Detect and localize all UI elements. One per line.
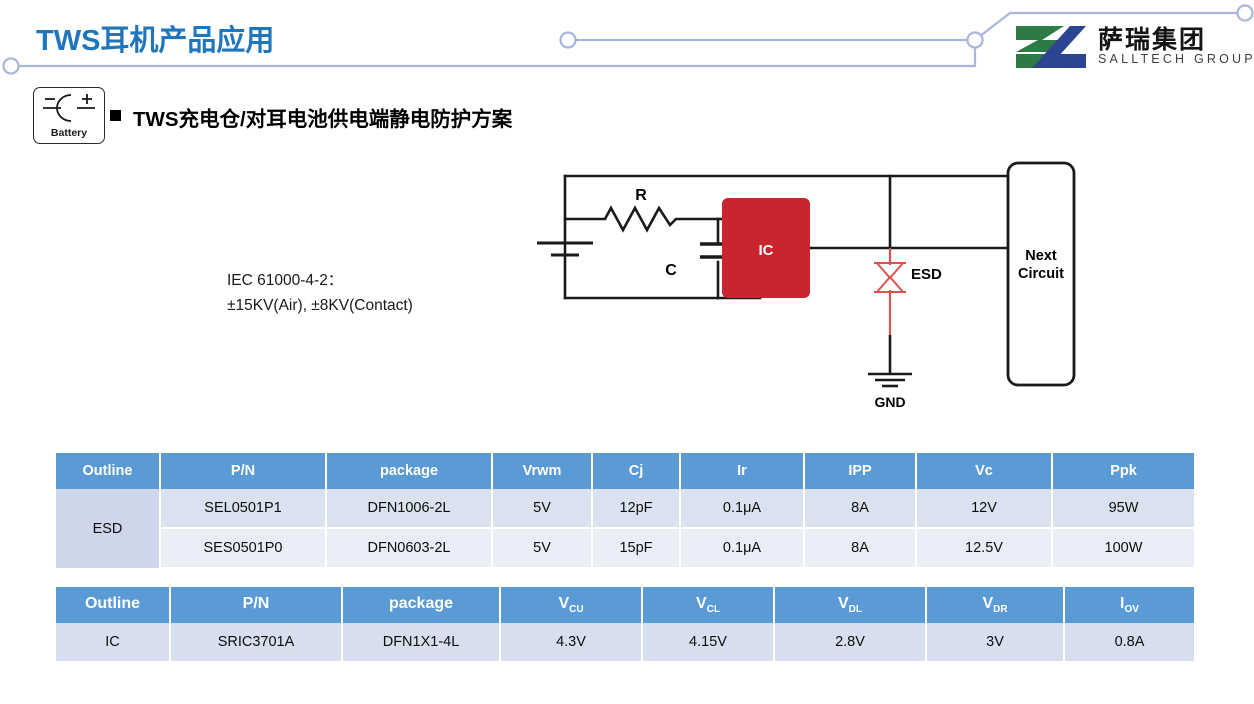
esd-spec-table: Outline P/N package Vrwm Cj Ir IPP Vc Pp… [56,453,1194,569]
cell-vcl: 4.15V [642,623,774,661]
cell-cj: 15pF [592,528,680,568]
col-cj[interactable]: Cj [592,453,680,489]
col-package[interactable]: package [326,453,492,489]
cell-ppk: 100W [1052,528,1194,568]
col-package[interactable]: package [342,587,500,623]
cell-ipp: 8A [804,528,916,568]
cell-pn: SEL0501P1 [160,489,326,528]
ic-spec-table: Outline P/N package VCU VCL VDL VDR IOV … [56,587,1194,661]
resistor-symbol [605,208,676,230]
cell-vrwm: 5V [492,489,592,528]
cell-vrwm: 5V [492,528,592,568]
cell-vdr: 3V [926,623,1064,661]
company-logo: 萨瑞集团 SALLTECH GROUP [1012,22,1248,74]
col-vdl[interactable]: VDL [774,587,926,623]
esd-label: ESD [911,266,942,283]
section-title: TWS充电仓/对耳电池供电端静电防护方案 [133,102,512,132]
cell-outline: IC [56,623,170,661]
next-circuit-line-1: Next [1025,248,1057,264]
ic-block-label: IC [759,242,774,259]
logo-name-en: SALLTECH GROUP [1098,52,1254,66]
deco-node-junction [968,33,983,48]
cell-package: DFN1X1-4L [342,623,500,661]
cell-vc: 12.5V [916,528,1052,568]
table-row[interactable]: ESD SEL0501P1 DFN1006-2L 5V 12pF 0.1μA 8… [56,489,1194,528]
battery-badge: Battery [33,87,105,144]
page-title: TWS耳机产品应用 [36,17,274,59]
col-ipp[interactable]: IPP [804,453,916,489]
cell-ppk: 95W [1052,489,1194,528]
capacitor-label: C [665,262,677,279]
gnd-label: GND [874,394,905,410]
cell-vdl: 2.8V [774,623,926,661]
resistor-label: R [635,187,647,204]
cell-ipp: 8A [804,489,916,528]
deco-node-mid [561,33,576,48]
col-vrwm[interactable]: Vrwm [492,453,592,489]
col-outline[interactable]: Outline [56,453,160,489]
col-pn[interactable]: P/N [160,453,326,489]
col-ppk[interactable]: Ppk [1052,453,1194,489]
cell-pn: SRIC3701A [170,623,342,661]
table-row[interactable]: SES0501P0 DFN0603-2L 5V 15pF 0.1μA 8A 12… [56,528,1194,568]
cell-ir: 0.1μA [680,528,804,568]
col-outline[interactable]: Outline [56,587,170,623]
logo-mark-icon [1012,24,1090,70]
circuit-diagram: R C IC ESD GND Next Circuit [0,150,1254,430]
table-header-row: Outline P/N package Vrwm Cj Ir IPP Vc Pp… [56,453,1194,489]
next-circuit-line-2: Circuit [1018,266,1064,282]
cell-iov: 0.8A [1064,623,1194,661]
cell-package: DFN0603-2L [326,528,492,568]
col-vcl[interactable]: VCL [642,587,774,623]
cell-outline-esd: ESD [56,489,160,568]
cell-vc: 12V [916,489,1052,528]
square-bullet-icon [110,110,121,121]
cell-vcu: 4.3V [500,623,642,661]
col-vdr[interactable]: VDR [926,587,1064,623]
col-vcu[interactable]: VCU [500,587,642,623]
table-row[interactable]: IC SRIC3701A DFN1X1-4L 4.3V 4.15V 2.8V 3… [56,623,1194,661]
table-header-row: Outline P/N package VCU VCL VDL VDR IOV [56,587,1194,623]
col-pn[interactable]: P/N [170,587,342,623]
battery-label: Battery [34,127,104,139]
col-vc[interactable]: Vc [916,453,1052,489]
cell-pn: SES0501P0 [160,528,326,568]
deco-node-left [4,59,19,74]
logo-name-cn: 萨瑞集团 [1098,20,1206,56]
deco-node-right [1238,6,1253,21]
cell-ir: 0.1μA [680,489,804,528]
cell-cj: 12pF [592,489,680,528]
cell-package: DFN1006-2L [326,489,492,528]
col-iov[interactable]: IOV [1064,587,1194,623]
battery-icon [39,91,99,125]
col-ir[interactable]: Ir [680,453,804,489]
